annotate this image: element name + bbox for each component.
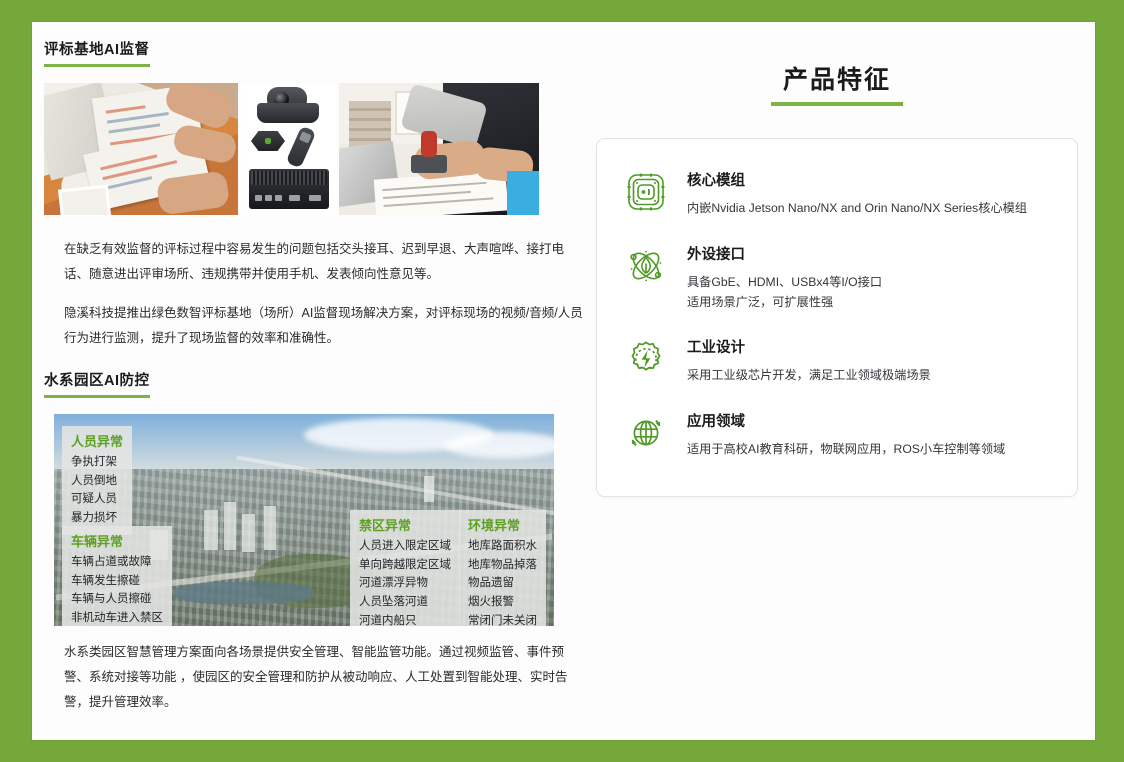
- tag-box-title: 车辆异常: [71, 531, 163, 550]
- tag-box-title: 人员异常: [71, 431, 123, 450]
- io-port: [265, 195, 272, 201]
- bidding-paragraph-2: 隐溪科技提推出绿色数智评标基地（场所）AI监督现场解决方案，对评标现场的视频/音…: [64, 301, 584, 351]
- feature-line: 适用于高校AI教育科研，物联网应用，ROS小车控制等领域: [687, 440, 1005, 460]
- tag-box-title: 环境异常: [468, 515, 537, 534]
- right-column: 产品特征: [592, 38, 1082, 497]
- chip-module-icon: [619, 169, 673, 213]
- feature-line: 适用场景广泛，可扩展性强: [687, 293, 882, 313]
- section-water-park: 水系园区AI防控 人员异常 争执打架: [44, 369, 584, 715]
- building-shape: [264, 506, 276, 550]
- list-item: 河道内船只: [359, 612, 451, 627]
- feature-text: 工业设计 采用工业级芯片开发，满足工业领域极端场景: [673, 336, 931, 386]
- list-item: 地库路面积水: [468, 537, 537, 556]
- page-canvas: 评标基地AI监督: [32, 22, 1095, 740]
- feature-title: 应用领域: [687, 410, 1005, 431]
- list-item: 车辆占道或故障: [71, 553, 163, 572]
- page-title: 产品特征: [771, 60, 903, 106]
- list-item: 暴力损坏: [71, 509, 123, 528]
- building-shape: [224, 502, 236, 550]
- water-park-description: 水系类园区智慧管理方案面向各场景提供安全管理、智能监管功能。通过视频监管、事件预…: [44, 640, 584, 715]
- list-item: 争执打架: [71, 453, 123, 472]
- list-item: 可疑人员: [71, 490, 123, 509]
- list-item: 人员坠落河道: [359, 593, 451, 612]
- globe-refresh-icon: [619, 410, 673, 454]
- gear-bolt-icon: [619, 336, 673, 380]
- feature-line: 采用工业级芯片开发，满足工业领域极端场景: [687, 366, 931, 386]
- left-column: 评标基地AI监督: [44, 38, 584, 729]
- tag-box-list: 争执打架 人员倒地 可疑人员 暴力损坏: [71, 453, 123, 528]
- list-item: 地库物品掉落: [468, 556, 537, 575]
- feature-line: 内嵌Nvidia Jetson Nano/NX and Orin Nano/NX…: [687, 199, 1027, 219]
- feature-title: 工业设计: [687, 336, 931, 357]
- tag-box-vehicle: 车辆异常 车辆占道或故障 车辆发生擦碰 车辆与人员擦碰 非机动车进入禁区: [62, 526, 172, 626]
- list-item: 非机动车进入禁区: [71, 609, 163, 626]
- cloud-shape: [444, 432, 554, 458]
- tag-box-title: 禁区异常: [359, 515, 451, 534]
- list-item: 车辆发生擦碰: [71, 572, 163, 591]
- tablet-shape: [58, 184, 112, 215]
- heatsink-fins-shape: [251, 171, 327, 185]
- tag-box-environment: 环境异常 地库路面积水 地库物品掉落 物品遗留 烟火报警 常闭门未关闭: [459, 510, 546, 626]
- feature-title: 外设接口: [687, 243, 882, 264]
- list-item: 烟火报警: [468, 593, 537, 612]
- feature-title: 核心模组: [687, 169, 1027, 190]
- feature-text: 应用领域 适用于高校AI教育科研，物联网应用，ROS小车控制等领域: [673, 410, 1005, 460]
- section-title-water-park: 水系园区AI防控: [44, 369, 150, 398]
- feature-card: 核心模组 内嵌Nvidia Jetson Nano/NX and Orin Na…: [596, 138, 1078, 497]
- feature-item-application-fields: 应用领域 适用于高校AI教育科研，物联网应用，ROS小车控制等领域: [619, 400, 1055, 474]
- bidding-paragraph-1: 在缺乏有效监督的评标过程中容易发生的问题包括交头接耳、迟到早退、大声喧哗、接打电…: [64, 237, 584, 287]
- list-item: 单向跨越限定区域: [359, 556, 451, 575]
- feature-line: 具备GbE、HDMI、USBx4等I/O接口: [687, 273, 882, 293]
- stamping-document-photo: [339, 83, 539, 215]
- stamp-handle-shape: [421, 131, 437, 157]
- remote-control-shape: [286, 125, 317, 168]
- camera-base-shape: [257, 103, 319, 123]
- feature-item-industrial-design: 工业设计 采用工业级芯片开发，满足工业领域极端场景: [619, 326, 1055, 400]
- feature-text: 核心模组 内嵌Nvidia Jetson Nano/NX and Orin Na…: [673, 169, 1027, 219]
- water-park-paragraph: 水系类园区智慧管理方案面向各场景提供安全管理、智能监管功能。通过视频监管、事件预…: [64, 640, 584, 715]
- river-shape: [174, 582, 314, 604]
- section-title-bidding: 评标基地AI监督: [44, 38, 150, 67]
- atom-leaf-icon: [619, 243, 673, 287]
- io-port: [289, 195, 300, 201]
- speakerphone-led: [265, 138, 271, 144]
- io-port: [275, 195, 282, 201]
- io-port: [309, 195, 321, 201]
- building-shape: [242, 514, 255, 552]
- feature-text: 外设接口 具备GbE、HDMI、USBx4等I/O接口 适用场景广泛，可扩展性强: [673, 243, 882, 313]
- tag-box-list: 车辆占道或故障 车辆发生擦碰 车辆与人员擦碰 非机动车进入禁区: [71, 553, 163, 626]
- tag-box-person: 人员异常 争执打架 人员倒地 可疑人员 暴力损坏: [62, 426, 132, 535]
- stamp-base-shape: [411, 155, 447, 173]
- feature-item-core-module: 核心模组 内嵌Nvidia Jetson Nano/NX and Orin Na…: [619, 159, 1055, 233]
- meeting-documents-photo: [44, 83, 238, 215]
- building-shape: [204, 510, 218, 550]
- io-port: [255, 195, 262, 201]
- aerial-city-park-photo: 人员异常 争执打架 人员倒地 可疑人员 暴力损坏 车辆异常 车辆占道或故障 车辆…: [54, 414, 554, 626]
- list-item: 物品遗留: [468, 574, 537, 593]
- conference-hardware-photo: [241, 83, 336, 215]
- photo-row-bidding: [44, 83, 584, 215]
- list-item: 河道漂浮异物: [359, 574, 451, 593]
- feature-item-peripheral-io: 外设接口 具备GbE、HDMI、USBx4等I/O接口 适用场景广泛，可扩展性强: [619, 233, 1055, 327]
- list-item: 人员进入限定区域: [359, 537, 451, 556]
- list-item: 常闭门未关闭: [468, 612, 537, 627]
- blue-folder-shape: [507, 171, 539, 215]
- tag-box-list: 地库路面积水 地库物品掉落 物品遗留 烟火报警 常闭门未关闭: [468, 537, 537, 626]
- tag-box-restricted-zone: 禁区异常 人员进入限定区域 单向跨越限定区域 河道漂浮异物 人员坠落河道 河道内…: [350, 510, 460, 626]
- list-item: 车辆与人员擦碰: [71, 590, 163, 609]
- list-item: 人员倒地: [71, 472, 123, 491]
- bidding-description: 在缺乏有效监督的评标过程中容易发生的问题包括交头接耳、迟到早退、大声喧哗、接打电…: [44, 237, 584, 351]
- tag-box-list: 人员进入限定区域 单向跨越限定区域 河道漂浮异物 人员坠落河道 河道内船只: [359, 537, 451, 626]
